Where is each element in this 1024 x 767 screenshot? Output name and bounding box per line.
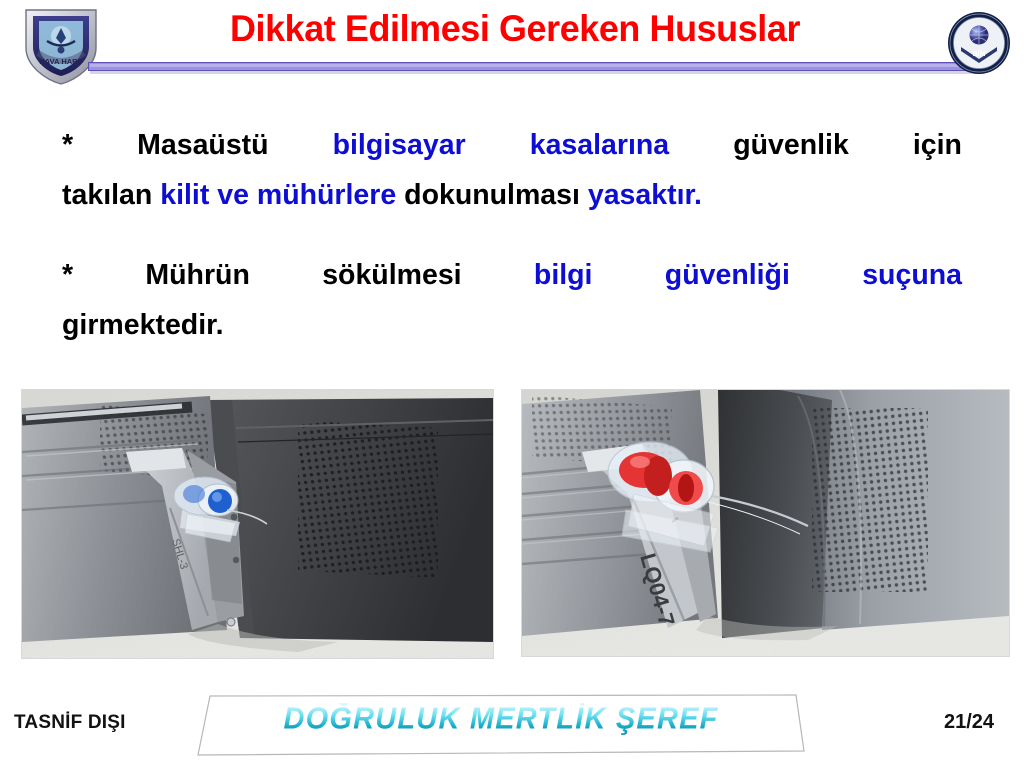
svg-text:HAVA HARP: HAVA HARP [39,57,82,66]
word: suçuna [862,250,962,300]
motto-banner: DOĞRULUK MERTLİK ŞEREF DOĞRULUK MERTLİK … [196,693,806,758]
word: bilgisayar [333,120,466,170]
paragraph-2: *Mührünsökülmesibilgigüvenliğisuçunagirm… [62,250,962,350]
word: güvenlik [733,120,849,170]
paragraph-2-line-2: girmektedir. [62,300,962,350]
footer-classification-label: TASNİF DIŞI [14,712,126,734]
content-text: *Masaüstübilgisayarkasalarınagüvenlikiçi… [62,120,962,350]
paragraph-2-line-1: *Mührünsökülmesibilgigüvenliğisuçuna [62,250,962,300]
page-title: Dikkat Edilmesi Gereken Hususlar [132,6,898,52]
word: bilgi [534,250,593,300]
paragraph-1: *Masaüstübilgisayarkasalarınagüvenlikiçi… [62,120,962,220]
bim-emblem-icon: BİM [946,6,1012,80]
word: * [62,250,73,300]
word: takılan [62,170,152,220]
word: * [62,120,73,170]
word: güvenliği [665,250,790,300]
svg-text:BİM: BİM [973,50,986,58]
paragraph-1-line-1: *Masaüstübilgisayarkasalarınagüvenlikiçi… [62,120,962,170]
hava-harp-okulu-crest-icon: HAVA HARP [14,4,108,88]
paragraph-1-line-2: takılan kilit ve mühürlere dokunulması y… [62,170,962,220]
word: Mührün [145,250,249,300]
motto-text-wrap: DOĞRULUK MERTLİK ŞEREF [196,703,806,755]
slide-header: HAVA HARP Dikkat Edilmesi Gereken Hususl… [0,0,1024,92]
word: Masaüstü [137,120,268,170]
photo-blue-seal-on-computer-case: SHL-3 [22,390,493,658]
photo-red-seal-on-computer-case: LQ04-7 [522,390,1009,656]
word: dokunulması [404,170,580,220]
word: girmektedir. [62,300,224,350]
word: sökülmesi [322,250,461,300]
motto-text: DOĞRULUK MERTLİK ŞEREF [283,703,718,737]
word: için [913,120,962,170]
word: kilit ve mühürlere [160,170,396,220]
footer-page-number: 21/24 [944,711,994,734]
title-divider [88,62,978,71]
word: yasaktır. [588,170,702,220]
word: kasalarına [530,120,669,170]
